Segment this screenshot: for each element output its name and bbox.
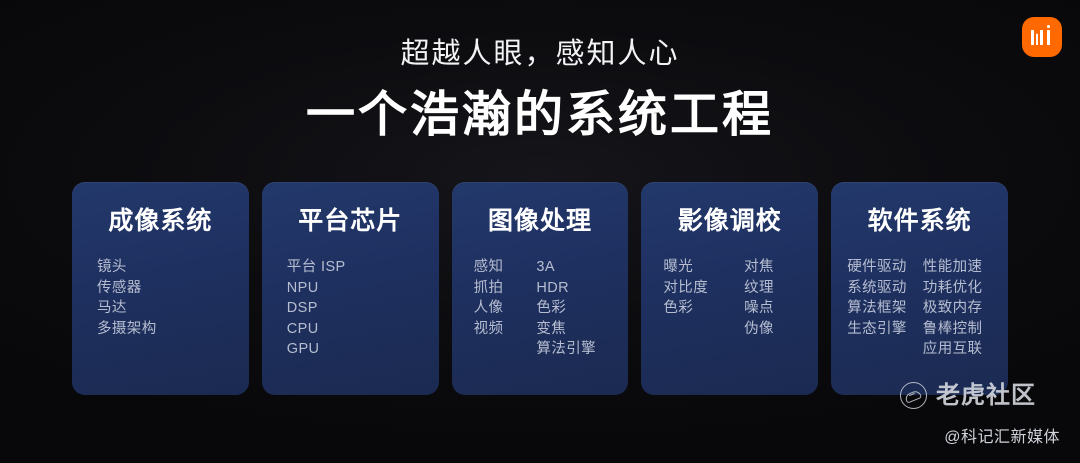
pillar-card-item: CPU <box>287 319 346 340</box>
pillar-card-item: 色彩 <box>536 298 596 319</box>
pillar-card-column: 3AHDR色彩变焦算法引擎 <box>536 257 596 360</box>
pillar-card-item: 性能加速 <box>923 257 983 278</box>
pillar-card-item: 应用互联 <box>923 339 983 360</box>
pillar-card-item: 色彩 <box>663 298 708 319</box>
pillar-card-title: 影像调校 <box>641 206 818 236</box>
pillar-card-item: 人像 <box>474 298 504 319</box>
pillar-card-item: 感知 <box>474 257 504 278</box>
pillar-card-item: 伪像 <box>744 319 774 340</box>
pillar-card-item: 极致内存 <box>923 298 983 319</box>
pillar-card-item: 抓拍 <box>474 278 504 299</box>
pillar-card: 平台芯片平台 ISPNPUDSPCPUGPU <box>262 182 439 395</box>
pillar-card-item: 噪点 <box>744 298 774 319</box>
tiger-community-logo-icon <box>900 382 927 409</box>
pillar-card-column: 镜头传感器马达多摄架构 <box>97 257 157 339</box>
pillar-card-item: 硬件驱动 <box>847 257 907 278</box>
card-row: 成像系统镜头传感器马达多摄架构平台芯片平台 ISPNPUDSPCPUGPU图像处… <box>72 182 1008 395</box>
pillar-card-column: 对焦纹理噪点伪像 <box>744 257 774 339</box>
pillar-card-column: 性能加速功耗优化极致内存鲁棒控制应用互联 <box>923 257 983 360</box>
pillar-card-item: GPU <box>287 339 346 360</box>
pillar-card-item: 纹理 <box>744 278 774 299</box>
watermark-handle: @科记汇新媒体 <box>0 428 1060 448</box>
presentation-slide: 超越人眼，感知人心 一个浩瀚的系统工程 成像系统镜头传感器马达多摄架构平台芯片平… <box>0 0 1080 463</box>
slide-title: 一个浩瀚的系统工程 <box>0 84 1080 146</box>
pillar-card-item: 算法框架 <box>847 298 907 319</box>
pillar-card-item: 功耗优化 <box>923 278 983 299</box>
pillar-card: 影像调校曝光对比度色彩对焦纹理噪点伪像 <box>641 182 818 395</box>
pillar-card: 图像处理感知抓拍人像视频3AHDR色彩变焦算法引擎 <box>452 182 629 395</box>
pillar-card-item: 视频 <box>474 319 504 340</box>
pillar-card-item: 算法引擎 <box>536 339 596 360</box>
pillar-card-column: 平台 ISPNPUDSPCPUGPU <box>287 257 346 360</box>
pillar-card-item: 变焦 <box>536 319 596 340</box>
pillar-card-item: HDR <box>536 278 596 299</box>
pillar-card-item: 曝光 <box>663 257 708 278</box>
pillar-card-body: 镜头传感器马达多摄架构 <box>72 257 249 339</box>
pillar-card-item: 生态引擎 <box>847 319 907 340</box>
pillar-card-title: 图像处理 <box>452 206 629 236</box>
pillar-card-body: 感知抓拍人像视频3AHDR色彩变焦算法引擎 <box>452 257 629 360</box>
pillar-card-title: 成像系统 <box>72 206 249 236</box>
pillar-card-title: 平台芯片 <box>262 206 439 236</box>
pillar-card-column: 曝光对比度色彩 <box>663 257 708 339</box>
pillar-card-item: 3A <box>536 257 596 278</box>
watermark-brand: 老虎社区 <box>900 382 1036 409</box>
pillar-card-item: 镜头 <box>97 257 157 278</box>
pillar-card-item: 多摄架构 <box>97 319 157 340</box>
pillar-card-item: DSP <box>287 298 346 319</box>
pillar-card-item: 对比度 <box>663 278 708 299</box>
watermark-brand-label: 老虎社区 <box>936 383 1036 409</box>
pillar-card-column: 感知抓拍人像视频 <box>474 257 504 360</box>
pillar-card-item: 系统驱动 <box>847 278 907 299</box>
slide-subtitle: 超越人眼，感知人心 <box>0 36 1080 72</box>
pillar-card: 成像系统镜头传感器马达多摄架构 <box>72 182 249 395</box>
pillar-card-body: 平台 ISPNPUDSPCPUGPU <box>262 257 439 360</box>
pillar-card-column: 硬件驱动系统驱动算法框架生态引擎 <box>847 257 907 360</box>
pillar-card-item: 对焦 <box>744 257 774 278</box>
pillar-card-item: 鲁棒控制 <box>923 319 983 340</box>
pillar-card-item: NPU <box>287 278 346 299</box>
pillar-card-item: 传感器 <box>97 278 157 299</box>
pillar-card: 软件系统硬件驱动系统驱动算法框架生态引擎性能加速功耗优化极致内存鲁棒控制应用互联 <box>831 182 1008 395</box>
pillar-card-item: 马达 <box>97 298 157 319</box>
pillar-card-item: 平台 ISP <box>287 257 346 278</box>
pillar-card-title: 软件系统 <box>831 206 1008 236</box>
pillar-card-body: 硬件驱动系统驱动算法框架生态引擎性能加速功耗优化极致内存鲁棒控制应用互联 <box>831 257 1008 360</box>
pillar-card-body: 曝光对比度色彩对焦纹理噪点伪像 <box>641 257 818 339</box>
